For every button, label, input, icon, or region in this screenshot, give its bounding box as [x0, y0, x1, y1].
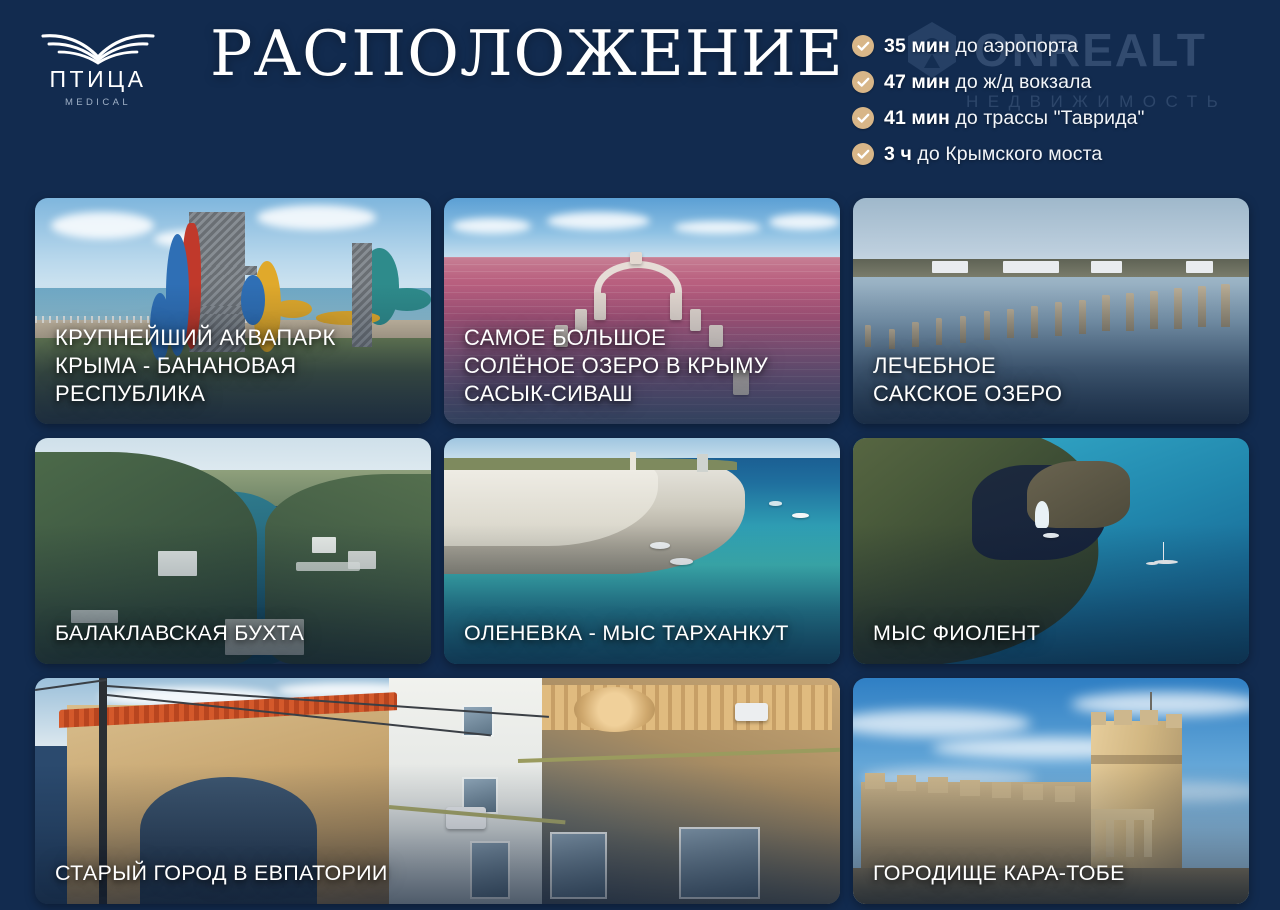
card-label: КРУПНЕЙШИЙ АКВАПАРК КРЫМА - БАНАНОВАЯ РЕ…: [55, 324, 417, 408]
fact-value: 35 мин: [884, 35, 950, 57]
fact-item: 3 ч до Крымского моста: [852, 136, 1145, 172]
page-title: РАСПОЛОЖЕНИЕ: [210, 21, 844, 87]
fact-value: 41 мин: [884, 107, 950, 129]
brand-name: ПТИЦА: [33, 68, 163, 91]
attraction-card-akvapark[interactable]: КРУПНЕЙШИЙ АКВАПАРК КРЫМА - БАНАНОВАЯ РЕ…: [35, 198, 431, 424]
page-header: ПТИЦА MEDICAL РАСПОЛОЖЕНИЕ 35 мин до аэр…: [0, 0, 1280, 190]
fact-label: до Крымского моста: [912, 143, 1102, 165]
check-circle-icon: [852, 71, 874, 93]
attraction-card-mys-fiolent[interactable]: МЫС ФИОЛЕНТ: [853, 438, 1249, 664]
fact-label: до аэропорта: [950, 35, 1078, 57]
check-circle-icon: [852, 107, 874, 129]
brand-subtitle: MEDICAL: [33, 97, 163, 108]
attractions-grid: КРУПНЕЙШИЙ АКВАПАРК КРЫМА - БАНАНОВАЯ РЕ…: [35, 198, 1247, 904]
card-label: ГОРОДИЩЕ КАРА-ТОБЕ: [873, 860, 1235, 888]
fact-text: 41 мин до трассы "Таврида": [884, 107, 1145, 130]
fact-text: 47 мин до ж/д вокзала: [884, 71, 1091, 94]
fact-label: до ж/д вокзала: [950, 71, 1092, 93]
bird-wings-logo-icon: [37, 27, 159, 67]
card-label: БАЛАКЛАВСКАЯ БУХТА: [55, 620, 417, 648]
fact-value: 47 мин: [884, 71, 950, 93]
fact-text: 35 мин до аэропорта: [884, 35, 1078, 58]
check-circle-icon: [852, 35, 874, 57]
card-label: СТАРЫЙ ГОРОД В ЕВПАТОРИИ: [55, 860, 826, 888]
facts-list: 35 мин до аэропорта 47 мин до ж/д вокзал…: [852, 28, 1145, 172]
attraction-card-gorodishche-kara-tobe[interactable]: ГОРОДИЩЕ КАРА-ТОБЕ: [853, 678, 1249, 904]
fact-label: до трассы "Таврида": [950, 107, 1145, 129]
attraction-card-balaklavskaya-buhta[interactable]: БАЛАКЛАВСКАЯ БУХТА: [35, 438, 431, 664]
attraction-card-sasyk-sivash[interactable]: САМОЕ БОЛЬШОЕ СОЛЁНОЕ ОЗЕРО В КРЫМУ САСЫ…: [444, 198, 840, 424]
fact-item: 47 мин до ж/д вокзала: [852, 64, 1145, 100]
fact-text: 3 ч до Крымского моста: [884, 143, 1102, 166]
attraction-card-staryy-gorod-evpatoriya[interactable]: СТАРЫЙ ГОРОД В ЕВПАТОРИИ: [35, 678, 840, 904]
fact-item: 41 мин до трассы "Таврида": [852, 100, 1145, 136]
attraction-card-olenevka-tarhankut[interactable]: ОЛЕНЕВКА - МЫС ТАРХАНКУТ: [444, 438, 840, 664]
attraction-card-sakskoe-ozero[interactable]: ЛЕЧЕБНОЕ САКСКОЕ ОЗЕРО: [853, 198, 1249, 424]
check-circle-icon: [852, 143, 874, 165]
card-label: ЛЕЧЕБНОЕ САКСКОЕ ОЗЕРО: [873, 352, 1235, 408]
card-label: МЫС ФИОЛЕНТ: [873, 620, 1235, 648]
brand-logo[interactable]: ПТИЦА MEDICAL: [33, 27, 163, 108]
fact-value: 3 ч: [884, 143, 912, 165]
fact-item: 35 мин до аэропорта: [852, 28, 1145, 64]
card-label: ОЛЕНЕВКА - МЫС ТАРХАНКУТ: [464, 620, 826, 648]
card-label: САМОЕ БОЛЬШОЕ СОЛЁНОЕ ОЗЕРО В КРЫМУ САСЫ…: [464, 324, 826, 408]
